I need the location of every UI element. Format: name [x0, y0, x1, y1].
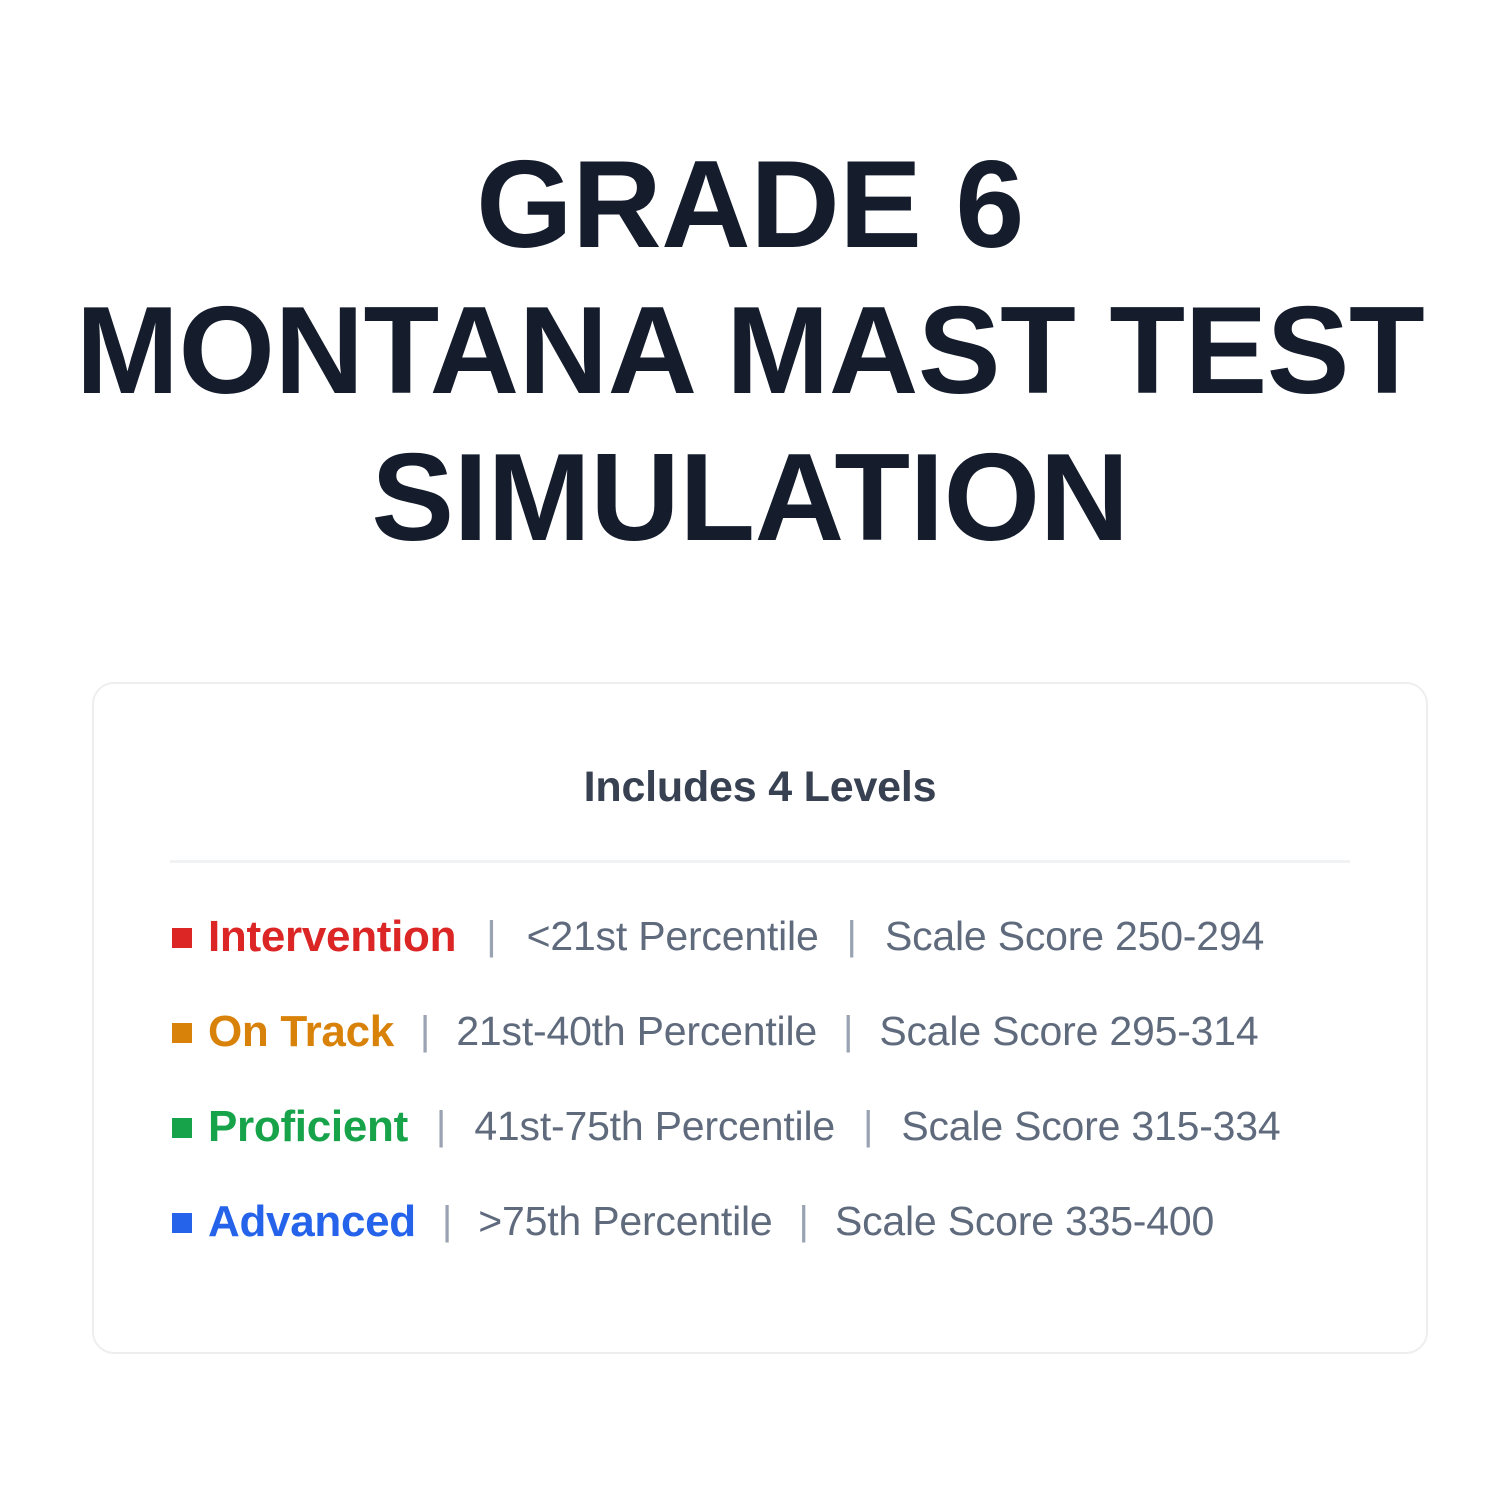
square-bullet-icon: [172, 1118, 192, 1138]
list-item: Intervention | <21st Percentile | Scale …: [172, 889, 1372, 984]
square-bullet-icon: [172, 928, 192, 948]
page-title: GRADE 6 MONTANA MAST TEST SIMULATION: [0, 132, 1500, 571]
separator: |: [436, 1104, 446, 1149]
levels-card-heading: Includes 4 Levels: [94, 766, 1426, 809]
separator: |: [843, 1009, 853, 1054]
level-scale-score: Scale Score 295-314: [879, 1008, 1258, 1055]
product-graphic-page: GRADE 6 MONTANA MAST TEST SIMULATION Inc…: [0, 0, 1500, 1500]
page-title-line-2: MONTANA MAST TEST: [0, 278, 1500, 424]
separator: |: [863, 1104, 873, 1149]
list-item: Advanced | >75th Percentile | Scale Scor…: [172, 1174, 1372, 1269]
level-name: Proficient: [208, 1102, 408, 1152]
separator: |: [847, 914, 857, 959]
page-title-line-3: SIMULATION: [0, 425, 1500, 571]
level-percentile: 41st-75th Percentile: [474, 1103, 835, 1150]
level-scale-score: Scale Score 250-294: [885, 913, 1264, 960]
level-percentile: 21st-40th Percentile: [456, 1008, 817, 1055]
separator: |: [799, 1199, 809, 1244]
list-item: Proficient | 41st-75th Percentile | Scal…: [172, 1079, 1372, 1174]
level-name: On Track: [208, 1007, 394, 1057]
level-name: Intervention: [208, 912, 456, 962]
separator: |: [420, 1009, 430, 1054]
levels-card: Includes 4 Levels Intervention | <21st P…: [92, 682, 1428, 1354]
page-title-line-1: GRADE 6: [0, 132, 1500, 278]
level-scale-score: Scale Score 335-400: [835, 1198, 1214, 1245]
level-percentile: <21st Percentile: [527, 913, 819, 960]
square-bullet-icon: [172, 1023, 192, 1043]
list-item: On Track | 21st-40th Percentile | Scale …: [172, 984, 1372, 1079]
square-bullet-icon: [172, 1213, 192, 1233]
separator: |: [486, 914, 496, 959]
level-name: Advanced: [208, 1197, 416, 1247]
separator: |: [442, 1199, 452, 1244]
levels-list: Intervention | <21st Percentile | Scale …: [172, 889, 1372, 1269]
level-scale-score: Scale Score 315-334: [901, 1103, 1280, 1150]
level-percentile: >75th Percentile: [478, 1198, 772, 1245]
levels-card-divider: [170, 860, 1350, 863]
